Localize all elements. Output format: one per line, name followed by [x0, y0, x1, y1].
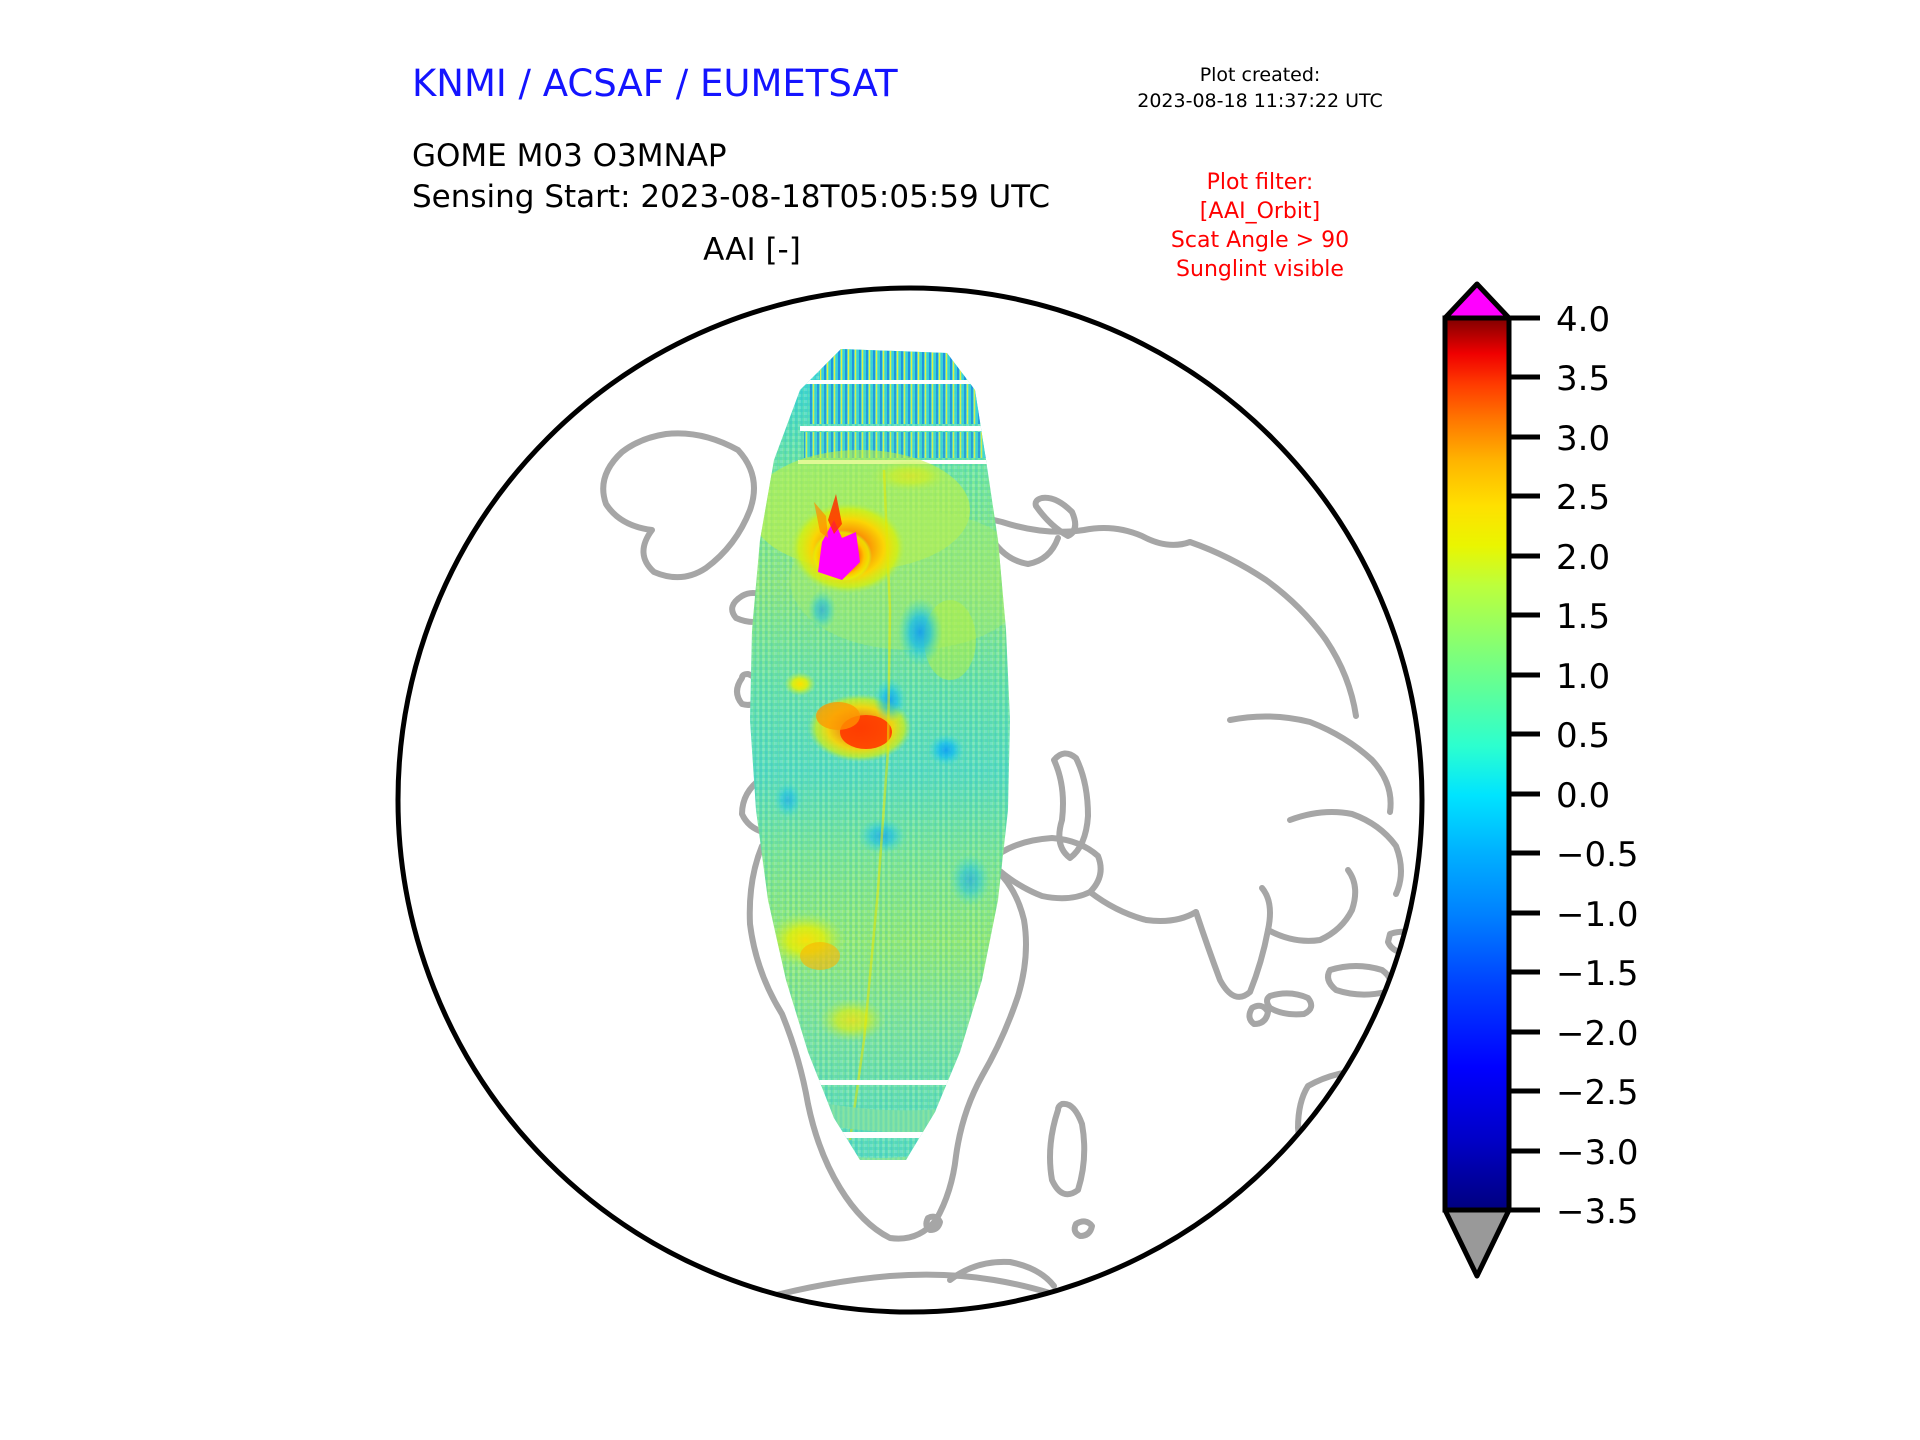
cb-label-2-0: 2.0 [1556, 538, 1610, 578]
plot-title-block: GOME M03 O3MNAP Sensing Start: 2023-08-1… [412, 136, 1050, 218]
colorbar-tick-labels: 4.0 3.5 3.0 2.5 2.0 1.5 1.0 0.5 0.0 −0.5… [1556, 300, 1639, 1232]
plot-filter-label: Plot filter: [1050, 168, 1470, 197]
cb-label-1-0: 1.0 [1556, 657, 1610, 697]
cb-label-neg-2-5: −2.5 [1556, 1073, 1639, 1113]
colorbar-gradient [1445, 318, 1509, 1210]
plot-created-label: Plot created: [1050, 62, 1470, 88]
cb-label-neg-2-0: −2.0 [1556, 1014, 1639, 1054]
cb-label-0-5: 0.5 [1556, 716, 1610, 756]
plot-created-timestamp: 2023-08-18 11:37:22 UTC [1050, 88, 1470, 114]
plot-filter-scat-angle: Scat Angle > 90 [1050, 226, 1470, 255]
colorbar-over-arrow [1445, 284, 1509, 318]
colorbar-under-arrow [1445, 1210, 1509, 1276]
cb-label-neg-1-5: −1.5 [1556, 954, 1639, 994]
sensing-start-title: Sensing Start: 2023-08-18T05:05:59 UTC [412, 177, 1050, 218]
plot-created-block: Plot created: 2023-08-18 11:37:22 UTC [1050, 62, 1470, 114]
organisation-header: KNMI / ACSAF / EUMETSAT [412, 62, 898, 105]
cb-label-neg-3-5: −3.5 [1556, 1192, 1639, 1232]
plot-filter-product: [AAI_Orbit] [1050, 197, 1470, 226]
colorbar-ticks [1509, 318, 1540, 1210]
cb-label-neg-0-5: −0.5 [1556, 835, 1639, 875]
cb-label-neg-1-0: −1.0 [1556, 895, 1639, 935]
instrument-title: GOME M03 O3MNAP [412, 136, 1050, 177]
plot-filter-block: Plot filter: [AAI_Orbit] Scat Angle > 90… [1050, 168, 1470, 284]
cb-label-0-0: 0.0 [1556, 776, 1610, 816]
quantity-title: AAI [-] [412, 232, 1092, 268]
cb-label-neg-3-0: −3.0 [1556, 1133, 1639, 1173]
cb-label-4-0: 4.0 [1556, 300, 1610, 340]
colorbar: 4.0 3.5 3.0 2.5 2.0 1.5 1.0 0.5 0.0 −0.5… [1430, 280, 1730, 1280]
cb-label-3-0: 3.0 [1556, 419, 1610, 459]
cb-label-1-5: 1.5 [1556, 597, 1610, 637]
orthographic-globe-map [390, 280, 1430, 1320]
cb-label-3-5: 3.5 [1556, 359, 1610, 399]
cb-label-2-5: 2.5 [1556, 478, 1610, 518]
